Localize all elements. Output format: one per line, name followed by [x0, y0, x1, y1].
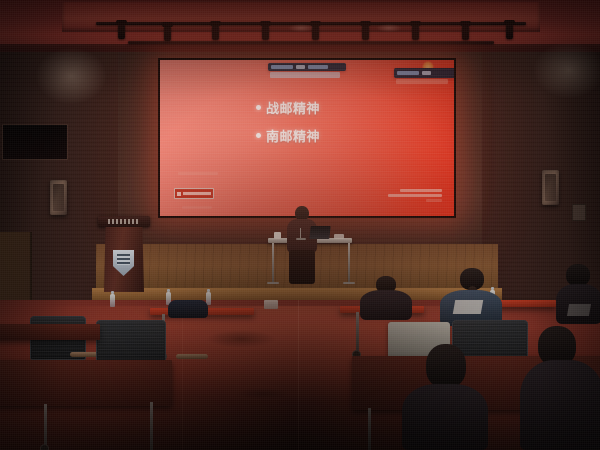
papers: [567, 304, 591, 316]
wall-plate: [572, 204, 586, 221]
spotlight-icon: [212, 25, 219, 40]
wall-light-glow: [534, 42, 600, 98]
ceiling-light-glow: [288, 24, 314, 32]
presenter-legs: [289, 250, 315, 284]
wall-speaker: [542, 170, 559, 205]
audience-person: [402, 344, 488, 450]
spotlight-icon: [164, 26, 171, 41]
podium: [98, 216, 150, 292]
wall-speaker: [50, 180, 67, 215]
chair-armrest: [176, 354, 208, 359]
ceiling-light-glow: [376, 24, 402, 32]
person-shoulders: [360, 290, 412, 320]
table-leg: [368, 408, 371, 450]
audience-person: [520, 326, 600, 450]
table-caster: [40, 444, 49, 450]
papers: [334, 234, 344, 239]
seated-presenter: [286, 206, 318, 284]
device: [264, 300, 278, 309]
microphone-base: [296, 238, 306, 240]
table-foot: [267, 282, 279, 284]
papers: [453, 300, 483, 314]
floor-marking: [236, 388, 290, 400]
spotlight-icon: [362, 25, 369, 40]
floor-seam: [298, 300, 299, 450]
floor-seam: [182, 300, 183, 450]
projection-screen: 战邮精神 南邮精神: [158, 58, 456, 218]
person-shoulders: [402, 384, 488, 450]
wall-light-glow: [36, 48, 106, 104]
person-shoulders: [520, 360, 600, 450]
audience-person: [440, 268, 502, 326]
spotlight-icon: [506, 24, 513, 39]
lecture-hall-photo: 战邮精神 南邮精神: [0, 0, 600, 450]
spotlight-icon: [262, 25, 269, 40]
water-bottle: [110, 294, 115, 307]
laptop: [309, 226, 330, 239]
audience-table: [0, 324, 100, 340]
spotlight-icon: [462, 25, 469, 40]
audience-person: [360, 276, 412, 320]
table-leg: [348, 243, 350, 283]
table-foot: [343, 282, 355, 284]
slide-surface: 战邮精神 南邮精神: [160, 60, 454, 216]
screen-vignette: [160, 60, 454, 216]
dark-window-panel: [2, 124, 68, 160]
table-leg: [150, 402, 153, 450]
table-leg: [356, 312, 359, 352]
ceiling: [0, 0, 600, 56]
person-head: [566, 264, 590, 286]
spotlight-icon: [118, 24, 125, 39]
spotlight-icon: [412, 25, 419, 40]
audience-table: [0, 360, 172, 406]
table-leg: [272, 243, 274, 283]
floor-marking: [206, 330, 276, 348]
person-head: [426, 344, 466, 388]
podium-wordmark: [108, 219, 138, 224]
podium-top: [98, 216, 150, 227]
bag: [168, 300, 208, 318]
cup: [274, 232, 281, 239]
